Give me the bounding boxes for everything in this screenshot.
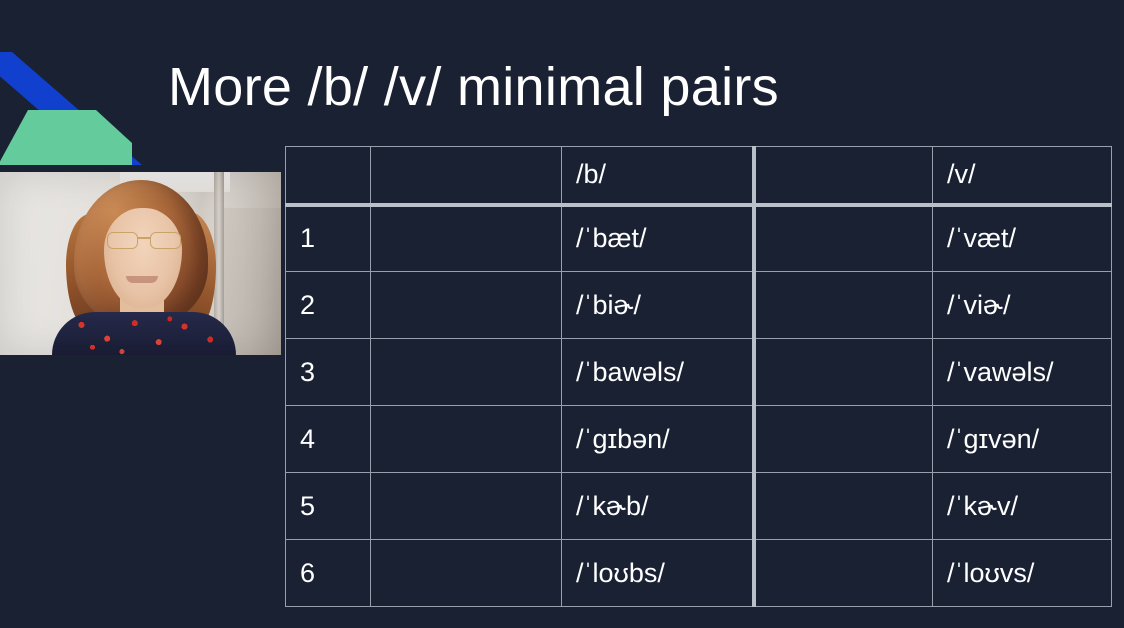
row-b-transcription: /ˈkɚb/ — [562, 473, 754, 540]
row-b-transcription: /ˈloʊbs/ — [562, 540, 754, 607]
table-row: 2 /ˈbiɚ/ /ˈviɚ/ — [286, 272, 1112, 339]
table-header-row: /b/ /v/ — [286, 147, 1112, 205]
row-blank-1 — [371, 406, 562, 473]
row-blank-1 — [371, 540, 562, 607]
table-row: 1 /ˈbæt/ /ˈvæt/ — [286, 205, 1112, 272]
row-b-transcription: /ˈbawəls/ — [562, 339, 754, 406]
table-row: 6 /ˈloʊbs/ /ˈloʊvs/ — [286, 540, 1112, 607]
diagonal-stripes-logo — [0, 30, 150, 165]
header-cell-blank-1 — [371, 147, 562, 205]
row-blank-2 — [754, 339, 933, 406]
logo-green-stripe-body — [30, 112, 131, 165]
row-v-transcription: /ˈloʊvs/ — [933, 540, 1112, 607]
glasses-lens-right — [150, 232, 181, 249]
row-blank-1 — [371, 339, 562, 406]
row-blank-1 — [371, 272, 562, 339]
row-number: 6 — [286, 540, 371, 607]
presenter-mouth — [126, 276, 158, 283]
glasses-bridge — [137, 237, 151, 239]
row-v-transcription: /ˈvawəls/ — [933, 339, 1112, 406]
row-blank-2 — [754, 540, 933, 607]
row-number: 2 — [286, 272, 371, 339]
header-cell-b: /b/ — [562, 147, 754, 205]
logo-green-stripe — [0, 110, 132, 165]
minimal-pairs-table: /b/ /v/ 1 /ˈbæt/ /ˈvæt/ 2 /ˈbiɚ/ /ˈviɚ/ — [285, 146, 1112, 607]
presenter-shirt — [52, 312, 236, 355]
row-b-transcription: /ˈbæt/ — [562, 205, 754, 272]
row-number: 4 — [286, 406, 371, 473]
row-b-transcription: /ˈbiɚ/ — [562, 272, 754, 339]
row-number: 1 — [286, 205, 371, 272]
table-row: 5 /ˈkɚb/ /ˈkɚv/ — [286, 473, 1112, 540]
row-v-transcription: /ˈvæt/ — [933, 205, 1112, 272]
row-number: 5 — [286, 473, 371, 540]
slide-canvas: More /b/ /v/ minimal pairs /b/ /v/ 1 /ˈb… — [0, 0, 1124, 628]
row-blank-2 — [754, 406, 933, 473]
glasses-lens-left — [107, 232, 138, 249]
page-title: More /b/ /v/ minimal pairs — [168, 58, 779, 117]
row-blank-1 — [371, 473, 562, 540]
header-cell-v: /v/ — [933, 147, 1112, 205]
table-row: 3 /ˈbawəls/ /ˈvawəls/ — [286, 339, 1112, 406]
logo-blue-stripe — [0, 52, 142, 165]
presenter-glasses — [106, 232, 182, 248]
row-b-transcription: /ˈɡɪbən/ — [562, 406, 754, 473]
table-row: 4 /ˈɡɪbən/ /ˈɡɪvən/ — [286, 406, 1112, 473]
row-number: 3 — [286, 339, 371, 406]
row-blank-2 — [754, 205, 933, 272]
row-v-transcription: /ˈkɚv/ — [933, 473, 1112, 540]
video-background-door — [224, 208, 281, 355]
row-blank-2 — [754, 473, 933, 540]
header-cell-blank-2 — [754, 147, 933, 205]
header-cell-number — [286, 147, 371, 205]
row-blank-2 — [754, 272, 933, 339]
row-v-transcription: /ˈviɚ/ — [933, 272, 1112, 339]
row-v-transcription: /ˈɡɪvən/ — [933, 406, 1112, 473]
row-blank-1 — [371, 205, 562, 272]
presenter-video-tile[interactable] — [0, 172, 281, 355]
